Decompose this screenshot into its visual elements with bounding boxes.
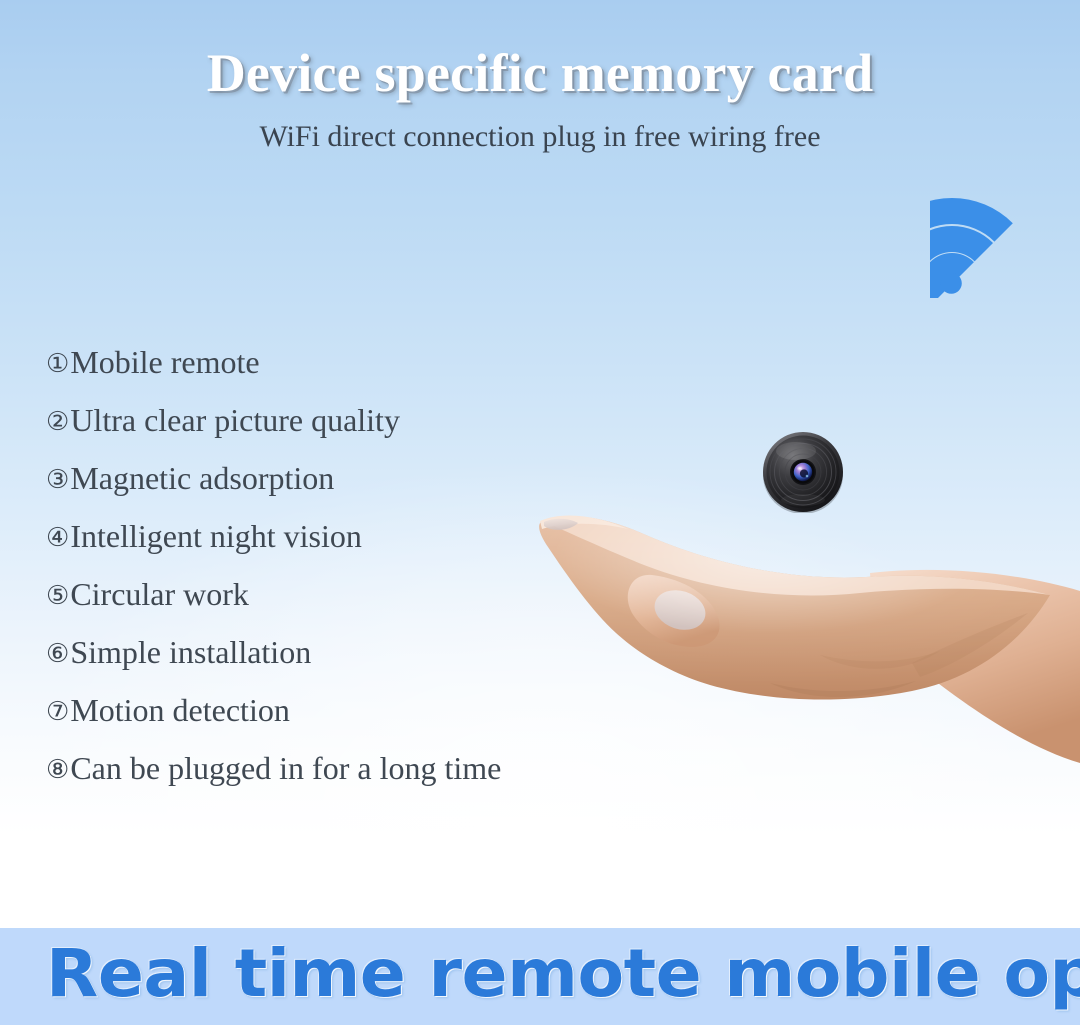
banner-headline: Real time remote mobile operation xyxy=(46,934,1066,1014)
list-item-label: Circular work xyxy=(70,565,249,623)
poster-subtitle: WiFi direct connection plug in free wiri… xyxy=(0,120,1080,154)
list-item-number: ① xyxy=(46,335,69,393)
list-item-label: Can be plugged in for a long time xyxy=(70,739,501,797)
list-item: ① Mobile remote xyxy=(46,333,666,391)
list-item-number: ⑧ xyxy=(46,741,69,799)
list-item-number: ③ xyxy=(46,451,69,509)
list-item-label: Mobile remote xyxy=(70,333,259,391)
list-item-label: Ultra clear picture quality xyxy=(70,391,400,449)
bottom-banner: Real time remote mobile operation xyxy=(0,928,1080,1025)
poster-title: Device specific memory card xyxy=(0,42,1080,104)
list-item-label: Intelligent night vision xyxy=(70,507,362,565)
list-item-number: ⑥ xyxy=(46,625,69,683)
list-item-label: Simple installation xyxy=(70,623,311,681)
list-item: ② Ultra clear picture quality xyxy=(46,391,666,449)
list-item-label: Magnetic adsorption xyxy=(70,449,334,507)
wifi-icon xyxy=(930,188,1042,298)
mini-camera-device-icon xyxy=(762,431,844,513)
open-palm-hand-icon xyxy=(520,495,1080,795)
list-item-number: ⑦ xyxy=(46,683,69,741)
list-item-number: ⑤ xyxy=(46,567,69,625)
product-poster: Device specific memory card WiFi direct … xyxy=(0,0,1080,1025)
list-item-number: ④ xyxy=(46,509,69,567)
list-item-number: ② xyxy=(46,393,69,451)
list-item-label: Motion detection xyxy=(70,681,290,739)
